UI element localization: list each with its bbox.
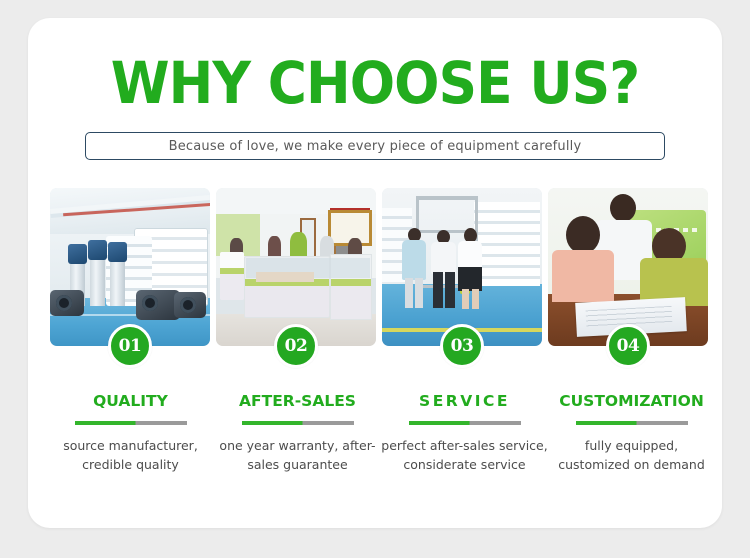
feature-divider-quality xyxy=(75,421,187,425)
feature-title-quality: QUALITY xyxy=(93,392,168,410)
feature-photo-customization[interactable] xyxy=(548,188,708,346)
water-treatment-pump-room-illustration xyxy=(50,188,210,346)
step-badge-02: 02 xyxy=(274,324,318,368)
feature-divider-after-sales xyxy=(242,421,354,425)
office-workstations-illustration xyxy=(216,188,376,346)
page-title: WHY CHOOSE US? xyxy=(56,54,694,112)
step-badge-03: 03 xyxy=(440,324,484,368)
feature-photo-after-sales[interactable] xyxy=(216,188,376,346)
feature-description-customization: fully equipped, customized on demand xyxy=(548,436,716,474)
feature-title-service: SERVICE xyxy=(419,392,510,410)
feature-photo-service[interactable] xyxy=(382,188,542,346)
feature-title-after-sales: AFTER-SALES xyxy=(239,392,356,410)
feature-divider-customization xyxy=(576,421,688,425)
step-badge-04: 04 xyxy=(606,324,650,368)
feature-description-service: perfect after-sales service, considerate… xyxy=(381,436,549,474)
feature-title-customization: CUSTOMIZATION xyxy=(559,392,704,410)
engineers-inspecting-equipment-illustration xyxy=(382,188,542,346)
feature-divider-service xyxy=(409,421,521,425)
feature-list: QUALITY source manufacturer, credible qu… xyxy=(50,392,708,474)
photo-row xyxy=(50,188,708,346)
feature-item-service: SERVICE perfect after-sales service, con… xyxy=(384,392,545,474)
badge-cell-3: 03 xyxy=(382,324,542,370)
badge-cell-2: 02 xyxy=(216,324,376,370)
subtitle-banner: Because of love, we make every piece of … xyxy=(85,132,665,160)
subtitle-text: Because of love, we make every piece of … xyxy=(169,139,582,154)
badge-cell-4: 04 xyxy=(548,324,708,370)
feature-photo-quality[interactable] xyxy=(50,188,210,346)
why-choose-us-card: WHY CHOOSE US? Because of love, we make … xyxy=(28,18,722,528)
feature-description-after-sales: one year warranty, after-sales guarantee xyxy=(214,436,382,474)
feature-item-customization: CUSTOMIZATION fully equipped, customized… xyxy=(551,392,712,474)
badge-row: 01 02 03 04 xyxy=(50,324,708,370)
team-reviewing-drawings-illustration xyxy=(548,188,708,346)
badge-cell-1: 01 xyxy=(50,324,210,370)
step-badge-01: 01 xyxy=(108,324,152,368)
feature-item-after-sales: AFTER-SALES one year warranty, after-sal… xyxy=(217,392,378,474)
feature-item-quality: QUALITY source manufacturer, credible qu… xyxy=(50,392,211,474)
feature-description-quality: source manufacturer, credible quality xyxy=(47,436,215,474)
